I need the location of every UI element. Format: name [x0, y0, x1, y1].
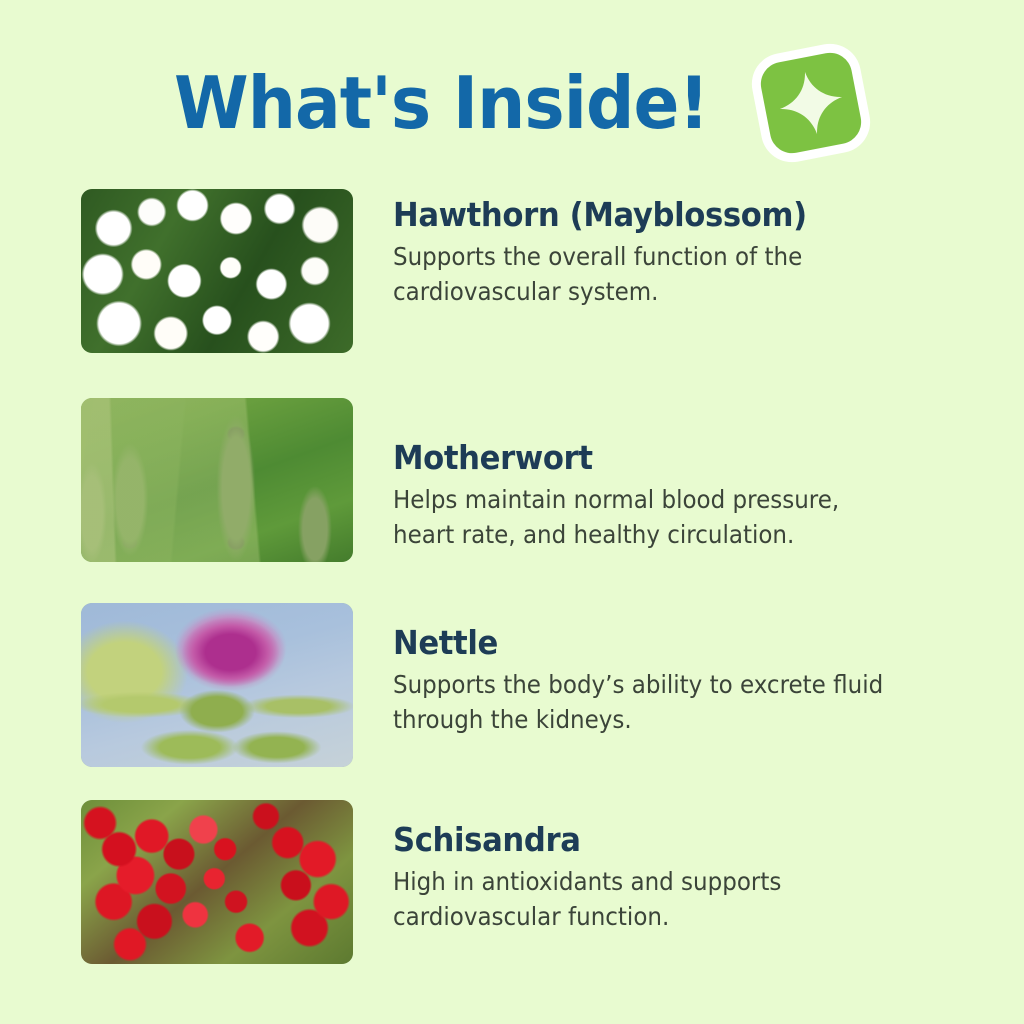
ingredient-text: Hawthorn (Mayblossom) Supports the overa…	[393, 197, 933, 310]
ingredient-description: Supports the body’s ability to excrete f…	[393, 667, 890, 738]
infographic-page: What's Inside! Hawthorn (Mayblossom) Sup…	[0, 0, 1024, 1024]
motherwort-photo	[81, 398, 353, 562]
ingredient-image	[81, 603, 353, 767]
ingredient-name: Hawthorn (Mayblossom)	[393, 197, 895, 233]
ingredient-name: Nettle	[393, 625, 895, 661]
brand-logo	[755, 47, 867, 159]
ingredient-description: High in antioxidants and supports cardio…	[393, 864, 890, 935]
page-header: What's Inside!	[0, 38, 1024, 168]
ingredient-description: Supports the overall function of the car…	[393, 239, 890, 310]
ingredient-name: Schisandra	[393, 822, 895, 858]
ingredient-description: Helps maintain normal blood pressure, he…	[393, 482, 890, 553]
ingredient-image	[81, 800, 353, 964]
schisandra-photo	[81, 800, 353, 964]
ingredient-text: Motherwort Helps maintain normal blood p…	[393, 440, 933, 553]
hawthorn-photo	[81, 189, 353, 353]
ingredient-text: Schisandra High in antioxidants and supp…	[393, 822, 933, 935]
nettle-photo	[81, 603, 353, 767]
ingredient-name: Motherwort	[393, 440, 895, 476]
ingredient-text: Nettle Supports the body’s ability to ex…	[393, 625, 933, 738]
ingredient-image	[81, 189, 353, 353]
ingredient-image	[81, 398, 353, 562]
sparkle-star-icon	[773, 64, 850, 141]
page-title: What's Inside!	[174, 67, 708, 139]
